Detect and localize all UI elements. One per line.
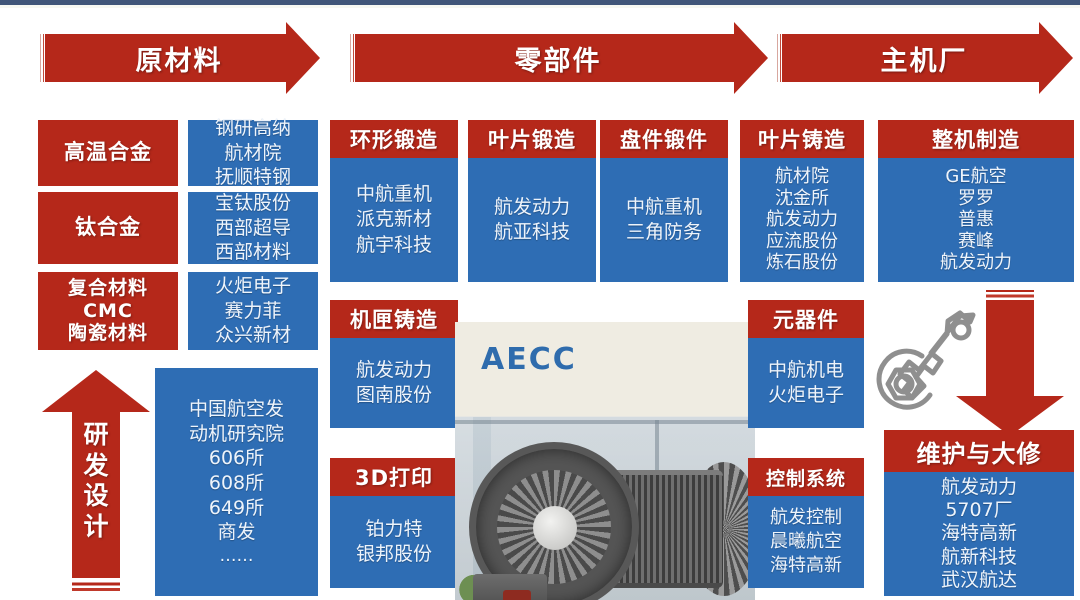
card-item: 海特高新 [770,554,842,578]
phase-arrow-tail-stripes [348,34,357,82]
card-mro[interactable]: 维护与大修 航发动力 5707厂 海特高新 航新科技 武汉航达 [884,430,1074,596]
card-item: 三角防务 [626,220,702,245]
rnd-label-char-3: 设 [40,481,152,512]
card-item: GE航空 [945,166,1006,188]
phase-arrow-head [1015,22,1073,94]
supplier-item: 西部材料 [215,240,291,265]
card-item: 图南股份 [356,383,432,408]
card-engine-assembly[interactable]: 整机制造 GE航空 罗罗 普惠 赛峰 航发动力 [878,120,1074,282]
card-ring-forging[interactable]: 环形锻造 中航重机 派克新材 航宇科技 [330,120,458,282]
card-item: 赛峰 [958,231,994,253]
rnd-label-char-1: 研 [40,420,152,451]
photo-brand-text: AECC [481,342,577,377]
card-title: 机匣铸造 [330,300,458,338]
card-title: 控制系统 [748,458,864,496]
phase-arrow-oem: 主机厂 [775,22,1073,94]
card-title: 环形锻造 [330,120,458,158]
phase-arrow-components: 零部件 [348,22,768,94]
material-category-label-line1: 复合材料 [68,277,148,300]
card-disc-forging[interactable]: 盘件锻件 中航重机 三角防务 [600,120,728,282]
rnd-institute-item: 动机研究院 [189,422,284,447]
phase-arrow-tail-stripes [38,34,47,82]
rnd-arrow-label: 研 发 设 计 [40,420,152,542]
card-item: 晨曦航空 [770,530,842,554]
phase-arrow-tail-stripes [775,34,784,82]
card-item: 中航重机 [626,195,702,220]
card-blade-casting[interactable]: 叶片铸造 航材院 沈金所 航发动力 应流股份 炼石股份 [740,120,864,282]
supplier-item: 航材院 [224,141,281,166]
material-category-label-line3: 陶瓷材料 [68,322,148,345]
material-category-composites[interactable]: 复合材料 CMC 陶瓷材料 [38,272,178,350]
top-accent-band-light [0,5,1080,8]
material-category-label: 钛合金 [75,215,141,240]
supplier-item: 钢研高纳 [215,116,291,141]
card-item: 航新科技 [941,546,1017,569]
phase-label-raw-materials: 原材料 [136,39,223,78]
card-item: 航发动力 [356,358,432,383]
card-item: 铂力特 [365,517,422,542]
card-item: 海特高新 [941,522,1017,545]
card-item: 火炬电子 [768,383,844,408]
supplier-item: 宝钛股份 [215,191,291,216]
phase-arrow-head [710,22,768,94]
rnd-up-arrow: 研 发 设 计 [40,368,152,596]
card-item: 航发动力 [766,209,838,231]
card-body: 航发动力 5707厂 海特高新 航新科技 武汉航达 [884,472,1074,596]
card-title: 元器件 [748,300,864,338]
card-item: 中航重机 [356,182,432,207]
card-body: 中航重机 三角防务 [600,158,728,282]
card-casing-casting[interactable]: 机匣铸造 航发动力 图南股份 [330,300,458,428]
card-title: 叶片锻造 [468,120,596,158]
material-category-titanium-alloy[interactable]: 钛合金 [38,192,178,264]
rnd-institute-item: 商发 [217,520,255,545]
phase-arrow-raw-materials: 原材料 [38,22,320,94]
card-item: 航宇科技 [356,233,432,258]
card-item: 罗罗 [958,188,994,210]
card-item: 炼石股份 [766,252,838,274]
card-item: 航发动力 [941,476,1017,499]
supplier-item: 赛力菲 [224,299,281,324]
card-item: 中航机电 [768,358,844,383]
card-item: 航发动力 [940,252,1012,274]
rnd-institute-item: 649所 [209,496,264,521]
photo-window-frame-h [455,420,755,424]
card-item: 银邦股份 [356,542,432,567]
card-control-system[interactable]: 控制系统 航发控制 晨曦航空 海特高新 [748,458,864,588]
card-body: 航发动力 图南股份 [330,338,458,428]
engine-red-marker [503,590,531,600]
aero-engine-photo: AECC [455,322,755,600]
card-item: 5707厂 [945,499,1012,522]
phase-label-oem: 主机厂 [881,39,968,78]
phase-arrow-head [262,22,320,94]
card-title: 盘件锻件 [600,120,728,158]
card-3d-printing[interactable]: 3D打印 铂力特 银邦股份 [330,458,458,588]
card-title: 3D打印 [330,458,458,496]
card-item: 派克新材 [356,207,432,232]
rnd-institute-item: 中国航空发 [189,397,284,422]
card-item: 航发动力 [494,195,570,220]
card-item: 应流股份 [766,231,838,253]
card-body: 航发控制 晨曦航空 海特高新 [748,496,864,588]
material-suppliers-superalloy[interactable]: 钢研高纳 航材院 抚顺特钢 [188,120,318,186]
material-category-label-line2: CMC [83,300,133,323]
rnd-institutes-box[interactable]: 中国航空发 动机研究院 606所 608所 649所 商发 …… [155,368,318,596]
card-item: 航发控制 [770,506,842,530]
card-body: 中航重机 派克新材 航宇科技 [330,158,458,282]
card-blade-forging[interactable]: 叶片锻造 航发动力 航亚科技 [468,120,596,282]
card-body: 铂力特 银邦股份 [330,496,458,588]
phase-label-components: 零部件 [515,39,602,78]
supplier-item: 众兴新材 [215,323,291,348]
supplier-item: 抚顺特钢 [215,165,291,190]
rnd-institute-item: …… [220,545,254,567]
card-item: 武汉航达 [941,569,1017,592]
card-title: 整机制造 [878,120,1074,158]
card-body: 中航机电 火炬电子 [748,338,864,428]
card-title: 叶片铸造 [740,120,864,158]
rnd-institute-item: 606所 [209,446,264,471]
rnd-institute-item: 608所 [209,471,264,496]
card-body: 航发动力 航亚科技 [468,158,596,282]
card-item: 航亚科技 [494,220,570,245]
card-item: 沈金所 [775,188,829,210]
material-suppliers-composites[interactable]: 火炬电子 赛力菲 众兴新材 [188,272,318,350]
card-body: GE航空 罗罗 普惠 赛峰 航发动力 [878,158,1074,282]
rnd-label-char-4: 计 [40,512,152,543]
supplier-item: 火炬电子 [215,274,291,299]
material-suppliers-titanium-alloy[interactable]: 宝钛股份 西部超导 西部材料 [188,192,318,264]
material-category-superalloy[interactable]: 高温合金 [38,120,178,186]
rnd-label-char-2: 发 [40,451,152,482]
engine-spinner-cone [533,506,577,550]
material-category-label: 高温合金 [64,140,152,165]
card-title: 维护与大修 [884,430,1074,472]
card-body: 航材院 沈金所 航发动力 应流股份 炼石股份 [740,158,864,282]
wrench-nut-icon [866,308,986,418]
card-components-parts[interactable]: 元器件 中航机电 火炬电子 [748,300,864,428]
card-item: 航材院 [775,166,829,188]
supplier-item: 西部超导 [215,216,291,241]
card-item: 普惠 [958,209,994,231]
